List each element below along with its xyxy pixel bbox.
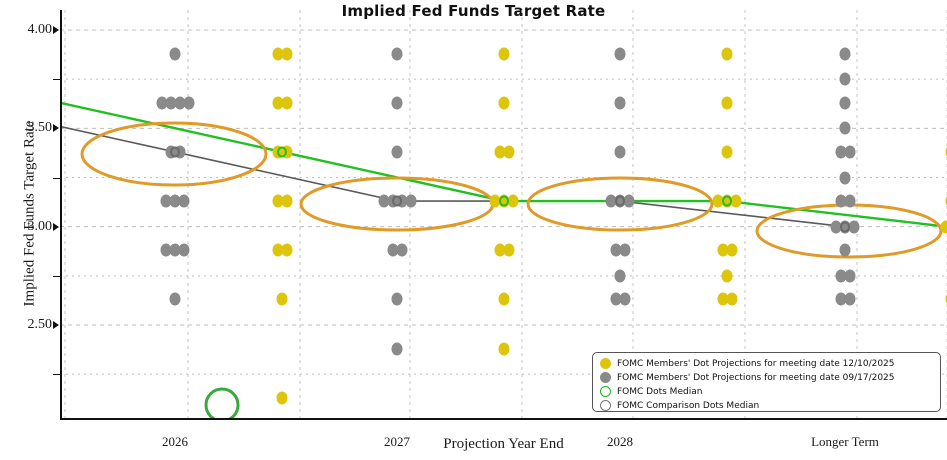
open-circle-icon <box>600 400 611 411</box>
legend-label: FOMC Members' Dot Projections for meetin… <box>617 359 895 369</box>
y-minor-tick <box>53 276 60 277</box>
open-circle-icon <box>600 386 611 397</box>
fed-dot-plot-chart: Implied Fed Funds Target Rate Implied Fe… <box>0 0 947 460</box>
y-axis-label: Implied Fed Funds Target Rate <box>22 14 39 414</box>
x-tick-label: 2028 <box>607 434 633 450</box>
x-tick-label: 2026 <box>162 434 188 450</box>
legend-label: FOMC Members' Dot Projections for meetin… <box>617 373 895 383</box>
legend: FOMC Members' Dot Projections for meetin… <box>592 352 941 412</box>
y-tick-mark <box>53 321 59 329</box>
y-tick-label: 3.50 <box>4 120 52 136</box>
legend-label: FOMC Comparison Dots Median <box>617 401 759 411</box>
legend-item-current-dots[interactable]: FOMC Members' Dot Projections for meetin… <box>600 357 934 370</box>
y-tick-label: 4.00 <box>4 22 52 38</box>
x-tick-label: 2027 <box>384 434 410 450</box>
x-tick-label: Longer Term <box>811 434 879 450</box>
y-minor-tick <box>53 79 60 80</box>
y-tick-label: 2.50 <box>4 317 52 333</box>
y-tick-mark <box>53 26 59 34</box>
legend-item-median[interactable]: FOMC Dots Median <box>600 385 934 398</box>
y-tick-label: 3.00 <box>4 219 52 235</box>
filled-circle-icon <box>600 372 611 383</box>
y-minor-tick <box>53 178 60 179</box>
filled-circle-icon <box>600 358 611 369</box>
y-minor-tick <box>53 374 60 375</box>
y-tick-mark <box>53 223 59 231</box>
legend-item-comparison-dots[interactable]: FOMC Members' Dot Projections for meetin… <box>600 371 934 384</box>
legend-label: FOMC Dots Median <box>617 387 702 397</box>
y-tick-mark <box>53 124 59 132</box>
legend-item-comparison-median[interactable]: FOMC Comparison Dots Median <box>600 399 934 412</box>
